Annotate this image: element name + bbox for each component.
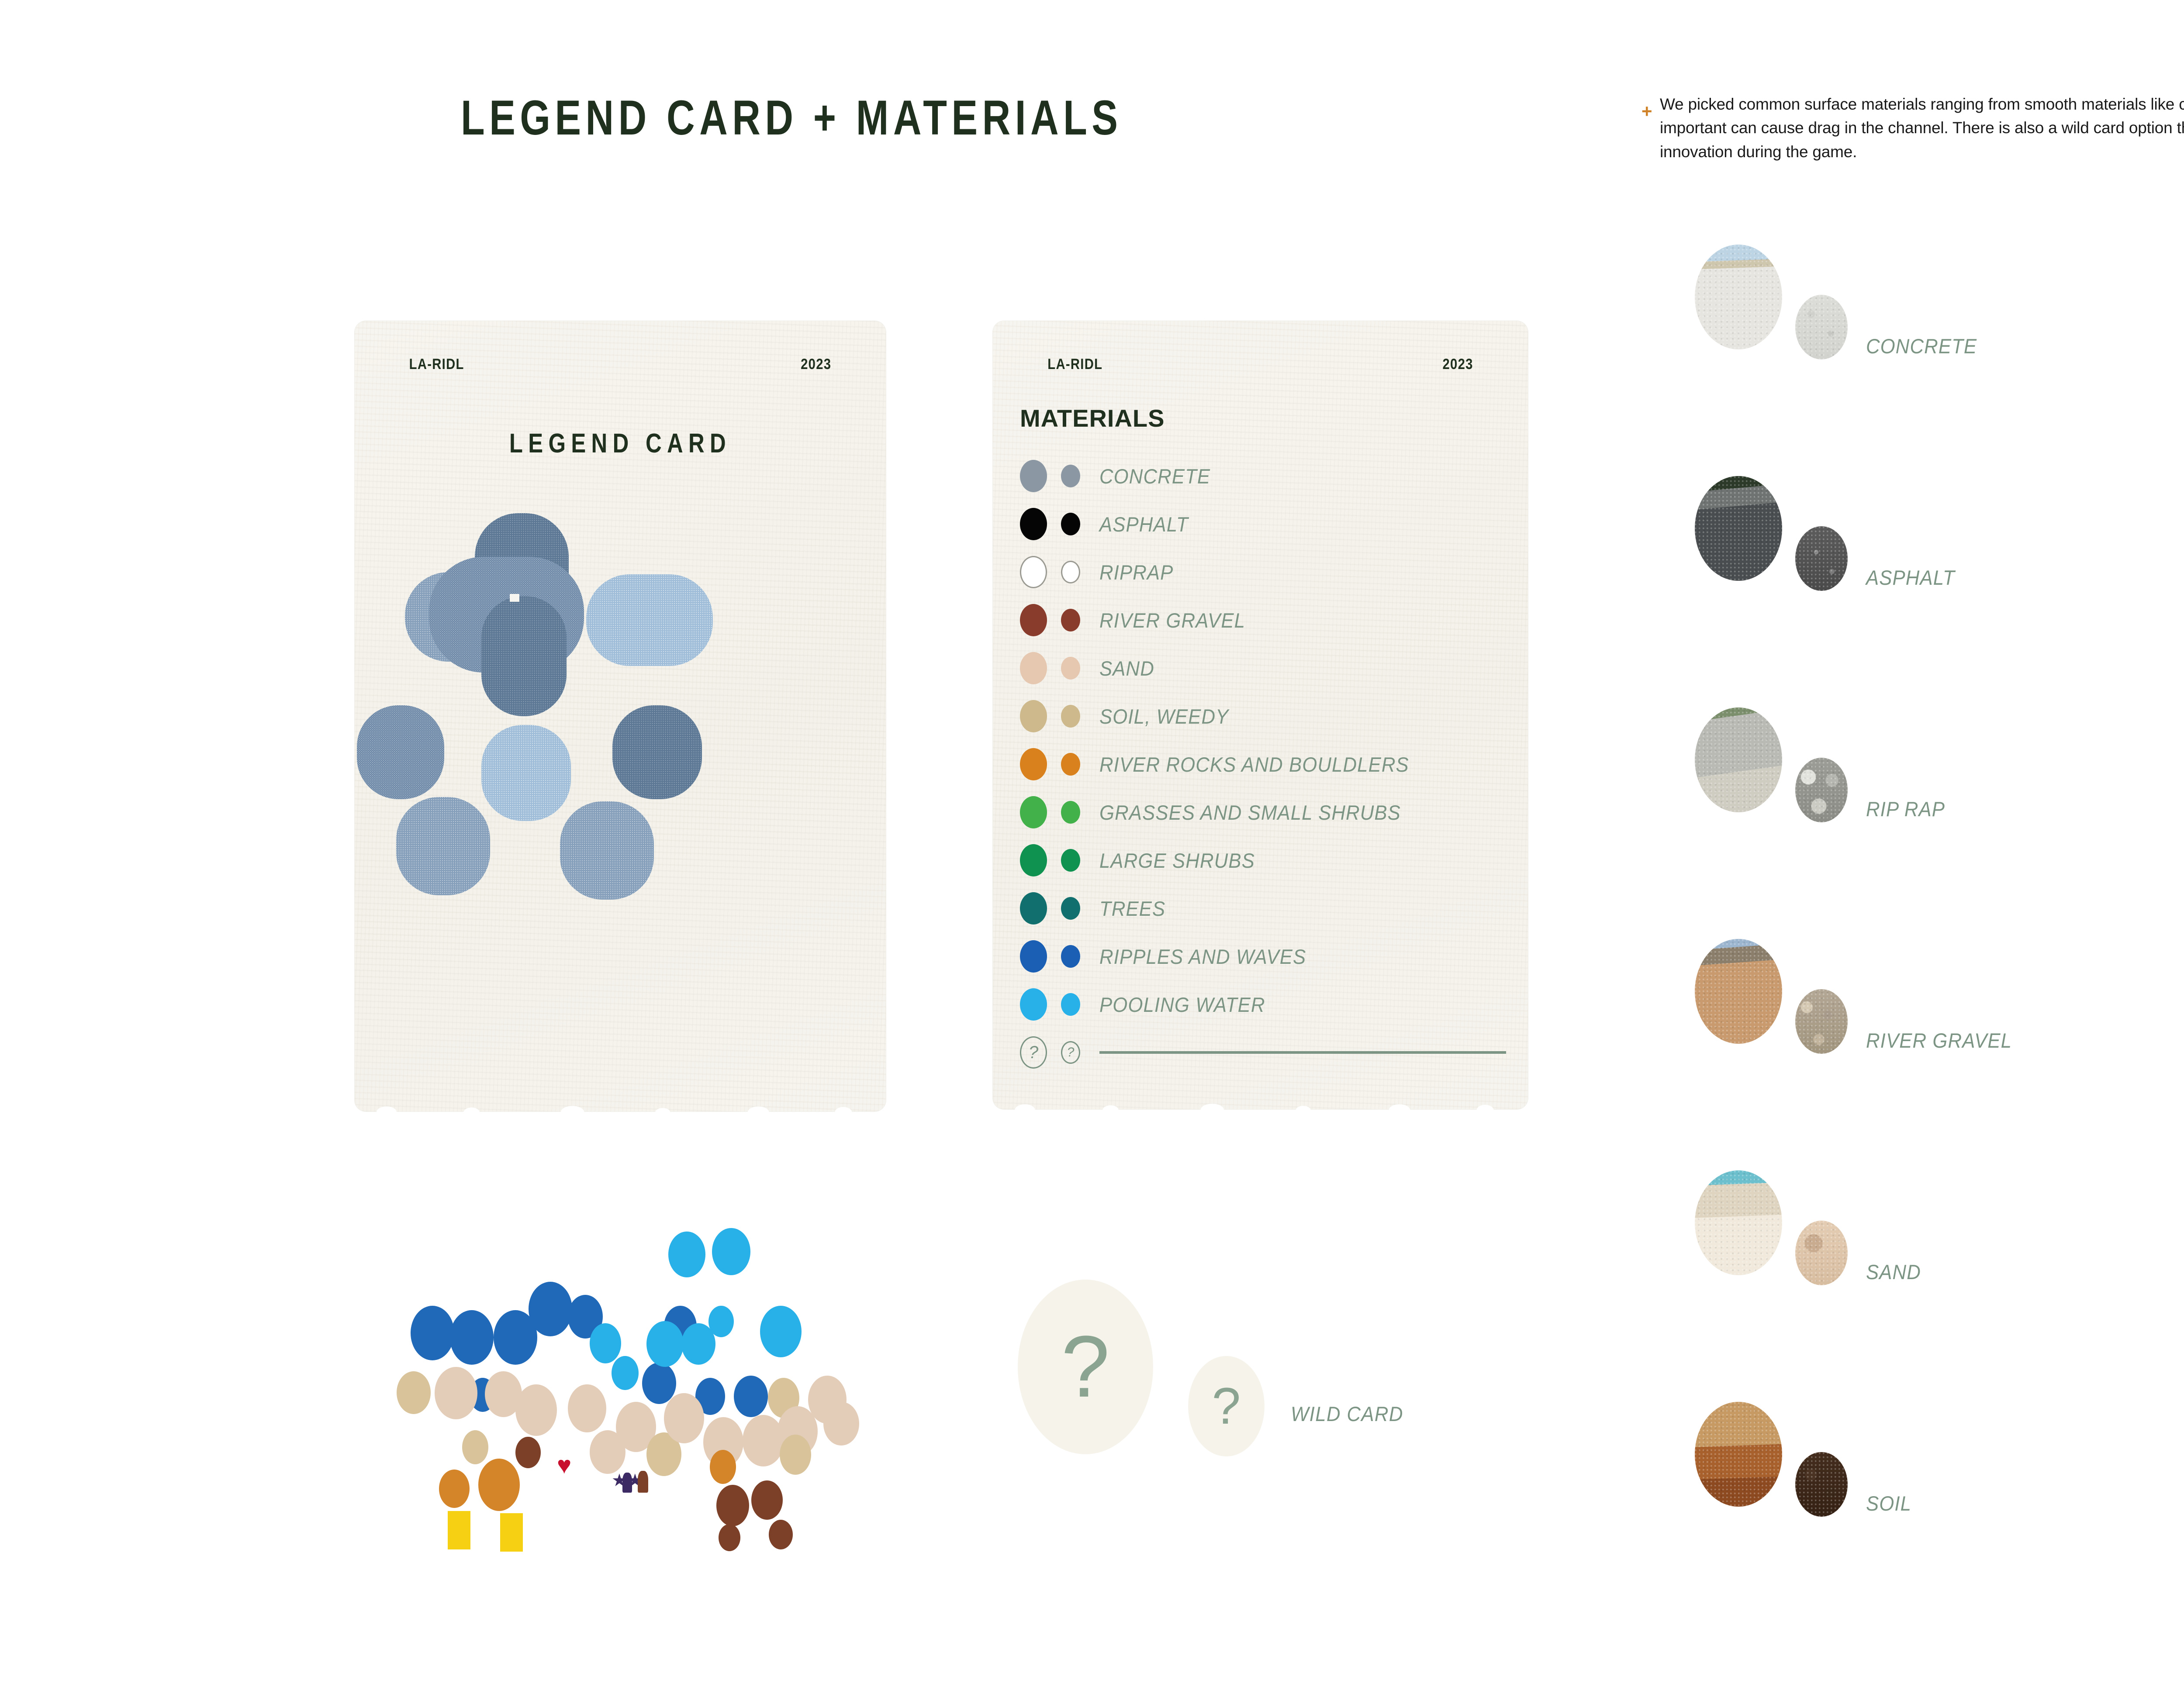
material-swatch-small	[1061, 801, 1080, 824]
material-swatch-large	[1020, 604, 1047, 636]
material-legend-row[interactable]: RIVER GRAVEL	[1020, 596, 1506, 644]
material-legend-row[interactable]: ASPHALT	[1020, 500, 1506, 548]
page-title: LEGEND CARD + MATERIALS	[461, 90, 1122, 146]
legend-card-year: 2023	[801, 356, 831, 373]
wild-card-large-circle: ?	[1018, 1280, 1153, 1454]
river-gravel-bank-photo	[1695, 939, 1782, 1044]
sand-texture-swatch	[1795, 1221, 1848, 1285]
materials-legend-list: CONCRETEASPHALTRIPRAPRIVER GRAVELSANDSOI…	[1020, 452, 1506, 1076]
materials-card-year: 2023	[1442, 356, 1473, 373]
material-legend-label: LARGE SHRUBS	[1099, 849, 1255, 873]
poster-page: LEGEND CARD + MATERIALS + We picked comm…	[0, 0, 2184, 1687]
photo-grain	[1795, 1452, 1848, 1517]
collage-figure-dot	[719, 1524, 740, 1551]
material-swatch-small	[1061, 705, 1080, 728]
question-mark-icon-large: ?	[1020, 1036, 1047, 1069]
material-legend-row[interactable]: SOIL, WEEDY	[1020, 692, 1506, 740]
material-legend-row[interactable]: CONCRETE	[1020, 452, 1506, 500]
material-swatch-large	[1020, 892, 1047, 925]
collage-dot	[734, 1376, 768, 1417]
collage-figure-dot	[710, 1450, 736, 1484]
photo-grain	[1695, 1402, 1782, 1507]
material-photo-label: SOIL	[1866, 1491, 1911, 1515]
material-legend-label: RIPRAP	[1099, 560, 1173, 584]
sand-dune-grass-photo	[1695, 1170, 1782, 1275]
intro-paragraph: We picked common surface materials rangi…	[1660, 93, 2184, 164]
collage-dot	[743, 1415, 784, 1466]
riprap-embankment-photo	[1695, 707, 1782, 812]
collage-dot	[681, 1323, 715, 1365]
wild-card-group[interactable]: ? ? WILD CARD	[1005, 1275, 1529, 1472]
material-swatch-large	[1020, 556, 1047, 588]
material-swatch-large	[1020, 460, 1047, 492]
material-legend-row[interactable]: RIPPLES AND WAVES	[1020, 932, 1506, 980]
material-swatch-large	[1020, 748, 1047, 780]
legend-card[interactable]: LA-RIDL 2023 LEGEND CARD	[355, 321, 886, 1111]
photo-grain	[1695, 1170, 1782, 1275]
materials-heading: MATERIALS	[1020, 404, 1165, 432]
photo-grain	[1795, 989, 1848, 1054]
material-legend-label: SAND	[1099, 656, 1154, 680]
material-photo-item: CONCRETE	[1695, 245, 2184, 476]
material-legend-label: CONCRETE	[1099, 464, 1210, 488]
photo-grain	[1795, 758, 1848, 822]
material-legend-row[interactable]: POOLING WATER	[1020, 980, 1506, 1028]
material-photo-label: CONCRETE	[1866, 334, 1977, 358]
collage-figure-dot	[751, 1480, 783, 1520]
legend-card-org: LA-RIDL	[409, 356, 464, 373]
material-legend-label: RIVER GRAVEL	[1099, 608, 1245, 632]
blue-blob-diagram	[355, 496, 886, 932]
collage-figure-dot	[769, 1520, 793, 1549]
photo-grain	[1695, 476, 1782, 581]
photo-column-left: CONCRETEASPHALTRIP RAPRIVER GRAVELSANDSO…	[1695, 245, 2184, 1633]
material-swatch-large	[1020, 652, 1047, 684]
material-legend-row[interactable]: SAND	[1020, 644, 1506, 692]
collage-person-silhouette	[622, 1473, 632, 1493]
wild-card-small-circle: ?	[1188, 1356, 1265, 1456]
material-photo-label: RIVER GRAVEL	[1866, 1028, 2012, 1052]
asphalt-texture-swatch	[1795, 526, 1848, 591]
plus-icon: +	[1641, 102, 1652, 121]
material-photo-item: RIVER GRAVEL	[1695, 939, 2184, 1170]
material-swatch-small	[1061, 753, 1080, 776]
riprap-texture-swatch	[1795, 758, 1848, 822]
material-swatch-small	[1061, 561, 1080, 583]
collage-dot	[668, 1232, 705, 1277]
concrete-texture-swatch	[1795, 295, 1848, 359]
collage-dot	[760, 1306, 802, 1357]
material-swatch-small	[1061, 849, 1080, 872]
material-swatch-large	[1020, 508, 1047, 540]
collage-dot	[529, 1282, 572, 1336]
gravel-texture-swatch	[1795, 989, 1848, 1054]
material-legend-label: SOIL, WEEDY	[1099, 704, 1229, 728]
collage-dot	[462, 1430, 488, 1464]
material-swatch-small	[1061, 657, 1080, 680]
decorative-dot-collage: ♥★★	[384, 1179, 882, 1502]
photo-grain	[1795, 1221, 1848, 1285]
material-legend-row[interactable]: LARGE SHRUBS	[1020, 836, 1506, 884]
collage-dot	[823, 1402, 859, 1446]
material-photo-item: SOIL	[1695, 1402, 2184, 1633]
material-photo-item: ASPHALT	[1695, 476, 2184, 707]
collage-figure-dot	[439, 1470, 470, 1508]
question-mark-icon-small: ?	[1061, 1041, 1080, 1064]
material-legend-row[interactable]: RIVER ROCKS AND BOULDLERS	[1020, 740, 1506, 788]
material-swatch-small	[1061, 945, 1080, 968]
material-swatch-small	[1061, 897, 1080, 920]
aerial-concrete-channel-photo	[1695, 245, 1782, 349]
materials-card[interactable]: LA-RIDL 2023 MATERIALS CONCRETEASPHALTRI…	[993, 321, 1528, 1109]
collage-person-silhouette	[638, 1471, 648, 1493]
material-legend-row[interactable]: GRASSES AND SMALL SHRUBS	[1020, 788, 1506, 836]
material-photo-label: ASPHALT	[1866, 566, 1955, 590]
collage-dot	[435, 1367, 477, 1419]
collage-dot	[397, 1371, 431, 1414]
material-legend-row[interactable]: RIPRAP	[1020, 548, 1506, 596]
blank-write-in-line[interactable]	[1099, 1051, 1506, 1054]
material-swatch-large	[1020, 700, 1047, 732]
collage-figure-dot	[515, 1437, 541, 1468]
material-swatch-large	[1020, 796, 1047, 828]
material-photo-grid: CONCRETEASPHALTRIP RAPRIVER GRAVELSANDSO…	[1695, 245, 2184, 1633]
material-photo-label: SAND	[1866, 1260, 1921, 1284]
collage-dot	[712, 1228, 750, 1275]
material-legend-row[interactable]: TREES	[1020, 884, 1506, 932]
material-wildcard-row[interactable]: ??	[1020, 1028, 1506, 1076]
collage-dot	[780, 1435, 811, 1475]
soil-texture-swatch	[1795, 1452, 1848, 1517]
material-legend-label: TREES	[1099, 897, 1165, 921]
collage-dot	[411, 1306, 454, 1360]
material-swatch-large	[1020, 844, 1047, 876]
soil-profile-photo	[1695, 1402, 1782, 1507]
photo-grain	[1795, 526, 1848, 591]
photo-grain	[1695, 707, 1782, 812]
intro-block: + We picked common surface materials ran…	[1641, 93, 2184, 164]
collage-dot	[450, 1310, 494, 1365]
collage-dot	[642, 1363, 676, 1404]
collage-dot	[612, 1356, 639, 1390]
collage-dot	[664, 1393, 704, 1443]
material-swatch-small	[1061, 993, 1080, 1016]
material-swatch-small	[1061, 513, 1080, 535]
material-legend-label: RIPPLES AND WAVES	[1099, 945, 1306, 969]
material-legend-label: POOLING WATER	[1099, 993, 1265, 1017]
material-photo-label: RIP RAP	[1866, 797, 1945, 821]
material-legend-label: ASPHALT	[1099, 512, 1189, 536]
collage-dot	[646, 1321, 684, 1367]
collage-leg-bar	[500, 1513, 523, 1552]
material-photo-item: RIP RAP	[1695, 707, 2184, 939]
material-legend-label: GRASSES AND SMALL SHRUBS	[1099, 800, 1401, 825]
material-swatch-large	[1020, 988, 1047, 1021]
collage-dot	[515, 1384, 557, 1436]
materials-card-org: LA-RIDL	[1047, 356, 1102, 373]
heart-icon: ♥	[557, 1456, 577, 1477]
collage-figure-dot	[478, 1459, 520, 1511]
legend-card-meta: LA-RIDL 2023	[409, 356, 832, 373]
collage-dot	[568, 1384, 606, 1432]
material-legend-label: RIVER ROCKS AND BOULDLERS	[1099, 752, 1409, 776]
legend-card-title: LEGEND CARD	[402, 428, 838, 459]
materials-card-meta: LA-RIDL 2023	[1047, 356, 1473, 373]
photo-grain	[1695, 245, 1782, 349]
material-swatch-small	[1061, 609, 1080, 631]
material-swatch-small	[1061, 465, 1080, 487]
collage-figure-dot	[716, 1485, 749, 1526]
photo-grain	[1795, 295, 1848, 359]
asphalt-road-photo	[1695, 476, 1782, 581]
collage-leg-bar	[448, 1511, 470, 1549]
wild-card-label: WILD CARD	[1291, 1402, 1403, 1426]
material-swatch-large	[1020, 940, 1047, 973]
material-photo-item: SAND	[1695, 1170, 2184, 1402]
collage-dot	[590, 1323, 621, 1363]
photo-grain	[1695, 939, 1782, 1044]
